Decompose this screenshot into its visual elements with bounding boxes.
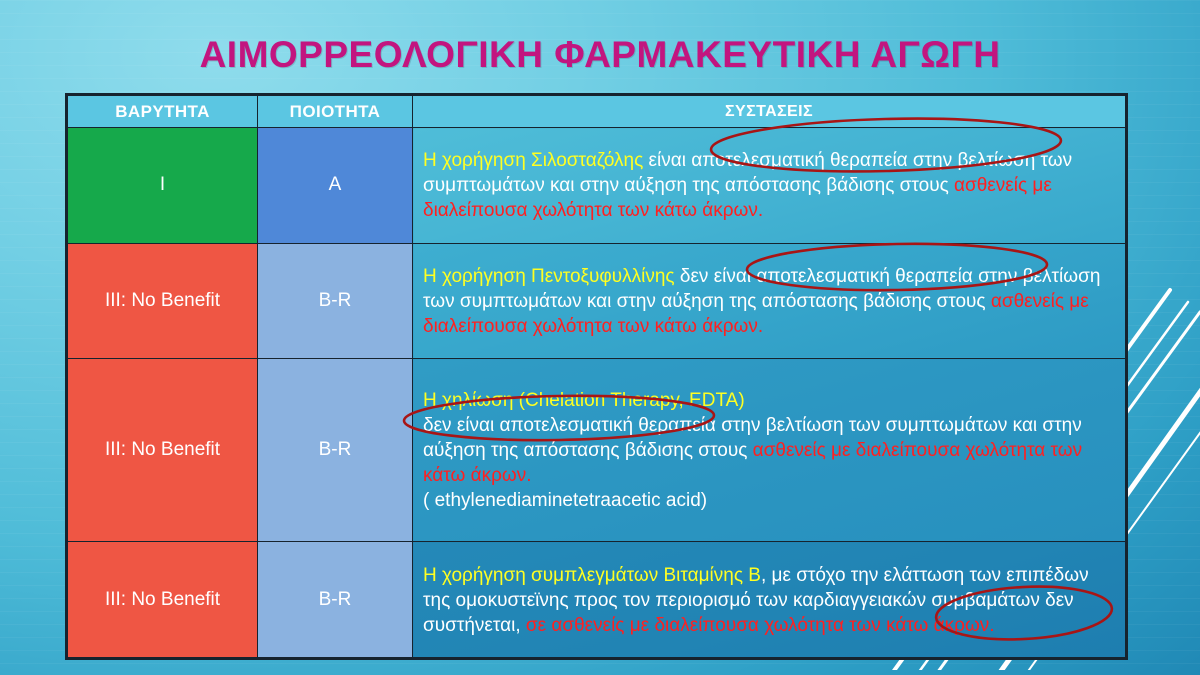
cell-quality: A	[258, 128, 413, 244]
recommendation-text-white: ( ethylenediaminetetraacetic acid)	[423, 490, 707, 511]
recommendation-text-yellow: Η χηλίωση (Chelation Therapy, EDTA)	[423, 390, 745, 411]
table-row: III: No BenefitB-RΗ χορήγηση Πεντοξυφυλλ…	[68, 243, 1126, 359]
cell-recommendation: Η χηλίωση (Chelation Therapy, EDTA) δεν …	[413, 359, 1126, 542]
cell-recommendation: Η χορήγηση Πεντοξυφυλλίνης δεν είναι απο…	[413, 243, 1126, 359]
table-header: ΒΑΡΥΤΗΤΑ ΠΟΙΟΤΗΤΑ ΣΥΣΤΑΣΕΙΣ	[68, 96, 1126, 128]
table-row: III: No BenefitB-RΗ χηλίωση (Chelation T…	[68, 359, 1126, 542]
recommendations-table-wrapper: ΒΑΡΥΤΗΤΑ ΠΟΙΟΤΗΤΑ ΣΥΣΤΑΣΕΙΣ IAΗ χορήγηση…	[65, 93, 1128, 660]
table-header-row: ΒΑΡΥΤΗΤΑ ΠΟΙΟΤΗΤΑ ΣΥΣΤΑΣΕΙΣ	[68, 96, 1126, 128]
table-row: IAΗ χορήγηση Σιλοσταζόλης είναι αποτελεσ…	[68, 128, 1126, 244]
column-header-severity: ΒΑΡΥΤΗΤΑ	[68, 96, 258, 128]
cell-severity: III: No Benefit	[68, 542, 258, 658]
recommendation-text-yellow: Η χορήγηση Σιλοσταζόλης	[423, 150, 643, 171]
cell-recommendation: Η χορήγηση συμπλεγμάτων Βιταμίνης Β, με …	[413, 542, 1126, 658]
cell-quality: B-R	[258, 542, 413, 658]
page-title: ΑΙΜΟΡΡΕΟΛΟΓΙΚΗ ΦΑΡΜΑΚΕΥΤΙΚΗ ΑΓΩΓΗ	[0, 34, 1200, 76]
recommendations-table: ΒΑΡΥΤΗΤΑ ΠΟΙΟΤΗΤΑ ΣΥΣΤΑΣΕΙΣ IAΗ χορήγηση…	[67, 95, 1126, 658]
table-body: IAΗ χορήγηση Σιλοσταζόλης είναι αποτελεσ…	[68, 128, 1126, 658]
cell-severity: III: No Benefit	[68, 243, 258, 359]
cell-severity: I	[68, 128, 258, 244]
column-header-quality: ΠΟΙΟΤΗΤΑ	[258, 96, 413, 128]
cell-quality: B-R	[258, 243, 413, 359]
recommendation-text-yellow: Η χορήγηση συμπλεγμάτων Βιταμίνης Β	[423, 565, 761, 586]
recommendation-text-yellow: Η χορήγηση Πεντοξυφυλλίνης	[423, 266, 675, 287]
cell-quality: B-R	[258, 359, 413, 542]
column-header-recommendations: ΣΥΣΤΑΣΕΙΣ	[413, 96, 1126, 128]
recommendation-text-red: σε ασθενείς με διαλείπουσα χωλότητα των …	[526, 615, 995, 636]
cell-severity: III: No Benefit	[68, 359, 258, 542]
cell-recommendation: Η χορήγηση Σιλοσταζόλης είναι αποτελεσμα…	[413, 128, 1126, 244]
table-row: III: No BenefitB-RΗ χορήγηση συμπλεγμάτω…	[68, 542, 1126, 658]
